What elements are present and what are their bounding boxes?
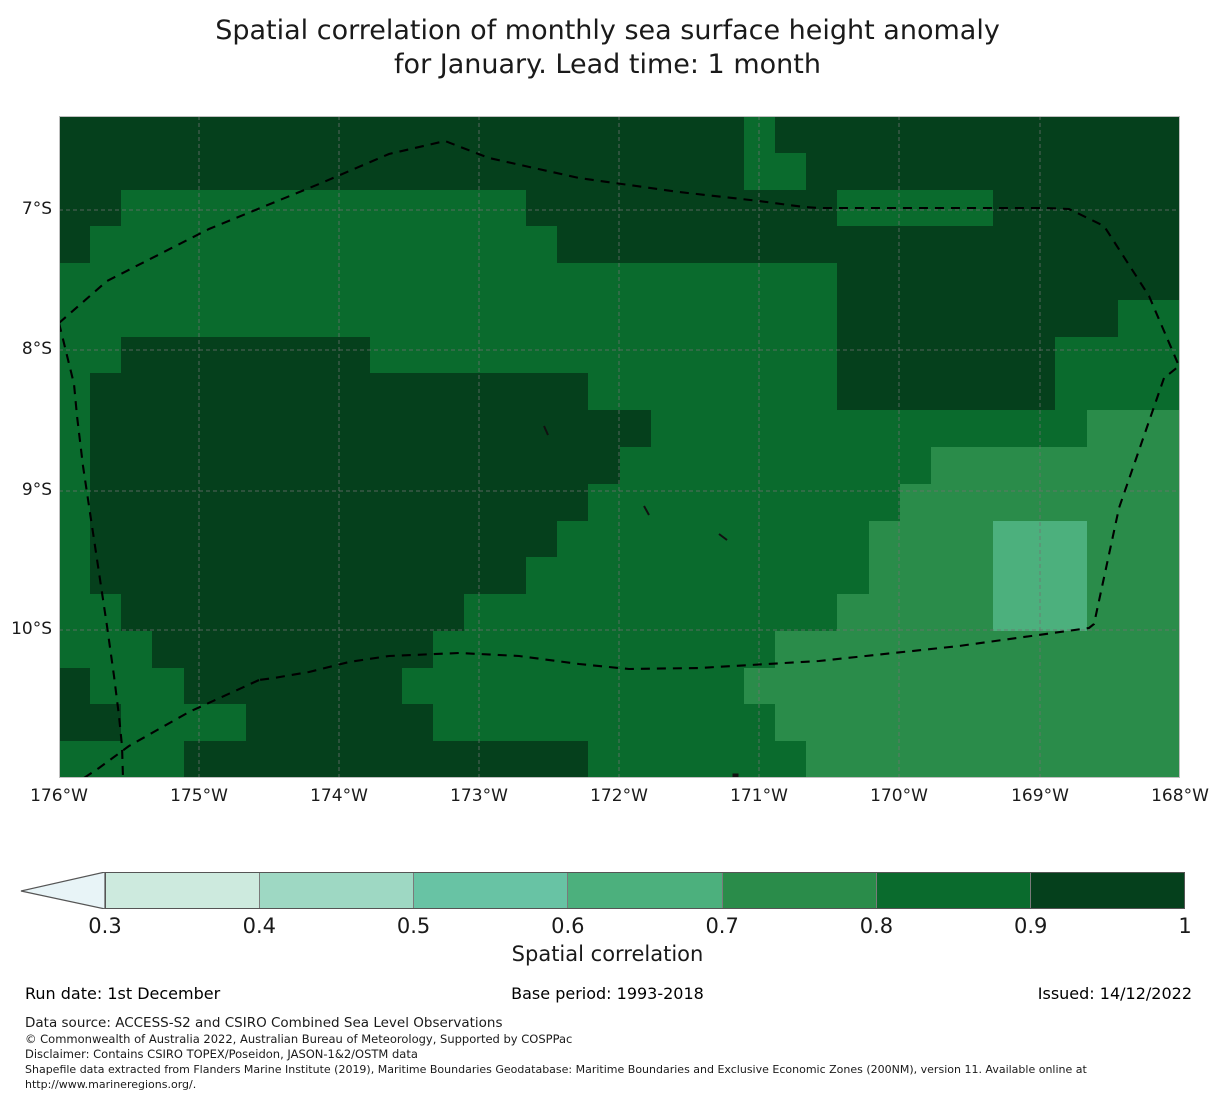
heatmap-cell bbox=[1055, 447, 1086, 484]
heatmap-cell bbox=[433, 557, 464, 594]
heatmap-cell bbox=[713, 594, 744, 631]
heatmap-cell bbox=[775, 631, 806, 668]
heatmap-cell bbox=[152, 521, 183, 558]
heatmap-cell bbox=[215, 704, 246, 741]
heatmap-cell bbox=[402, 373, 433, 410]
heatmap-cell bbox=[962, 410, 993, 447]
heatmap-cell bbox=[713, 116, 744, 153]
heatmap-cell bbox=[962, 337, 993, 374]
heatmap-cell bbox=[713, 668, 744, 705]
heatmap-cell bbox=[495, 741, 526, 778]
heatmap-cell bbox=[308, 263, 339, 300]
heatmap-cell bbox=[557, 557, 588, 594]
heatmap-cell bbox=[682, 190, 713, 227]
heatmap-cell bbox=[775, 594, 806, 631]
heatmap-cell bbox=[1149, 263, 1180, 300]
heatmap-cell bbox=[184, 190, 215, 227]
heatmap-cell bbox=[837, 337, 868, 374]
heatmap-cell bbox=[806, 484, 837, 521]
colorbar-tick-label: 0.4 bbox=[243, 914, 276, 938]
heatmap-cell bbox=[1087, 484, 1118, 521]
heatmap-cell bbox=[837, 410, 868, 447]
heatmap-cell bbox=[1149, 521, 1180, 558]
heatmap-cell bbox=[59, 704, 90, 741]
heatmap-cell bbox=[900, 704, 931, 741]
heatmap-cell bbox=[713, 741, 744, 778]
heatmap-cell bbox=[1149, 153, 1180, 190]
heatmap-cell bbox=[993, 741, 1024, 778]
heatmap-cell bbox=[1087, 704, 1118, 741]
longitude-tick-label: 168°W bbox=[1151, 786, 1209, 806]
heatmap-cell bbox=[682, 337, 713, 374]
heatmap-cell bbox=[246, 337, 277, 374]
heatmap-cell bbox=[215, 447, 246, 484]
heatmap-cell bbox=[806, 631, 837, 668]
heatmap-cell bbox=[993, 226, 1024, 263]
heatmap-cell bbox=[837, 631, 868, 668]
colorbar-tick-label: 1 bbox=[1178, 914, 1191, 938]
heatmap-cell bbox=[1024, 337, 1055, 374]
heatmap-cell bbox=[90, 741, 121, 778]
heatmap-cell bbox=[775, 300, 806, 337]
heatmap-cell bbox=[993, 263, 1024, 300]
heatmap-cell bbox=[339, 557, 370, 594]
heatmap-cell bbox=[900, 631, 931, 668]
colorbar-tick-label: 0.6 bbox=[551, 914, 584, 938]
heatmap-cell bbox=[869, 153, 900, 190]
heatmap-cell bbox=[1118, 741, 1149, 778]
heatmap-cell bbox=[246, 190, 277, 227]
heatmap-cell bbox=[993, 373, 1024, 410]
heatmap-cell bbox=[526, 631, 557, 668]
heatmap-cell bbox=[620, 300, 651, 337]
heatmap-cell bbox=[962, 704, 993, 741]
latitude-tick-label: 9°S bbox=[22, 480, 52, 500]
heatmap-cell bbox=[370, 557, 401, 594]
heatmap-cell bbox=[277, 668, 308, 705]
heatmap-cell bbox=[837, 447, 868, 484]
heatmap-cell bbox=[620, 484, 651, 521]
heatmap-cell bbox=[993, 447, 1024, 484]
heatmap-cell bbox=[308, 116, 339, 153]
heatmap-cell bbox=[495, 190, 526, 227]
heatmap-cell bbox=[370, 226, 401, 263]
heatmap-cell bbox=[308, 190, 339, 227]
heatmap-cell bbox=[620, 337, 651, 374]
heatmap-cell bbox=[277, 557, 308, 594]
heatmap-cell bbox=[1087, 741, 1118, 778]
heatmap-cell bbox=[121, 557, 152, 594]
heatmap-cell bbox=[90, 263, 121, 300]
heatmap-cell bbox=[588, 668, 619, 705]
colorbar-swatch bbox=[1031, 873, 1184, 908]
heatmap-cell bbox=[869, 594, 900, 631]
heatmap-cell bbox=[59, 447, 90, 484]
heatmap-cell bbox=[806, 668, 837, 705]
heatmap-cell bbox=[121, 153, 152, 190]
heatmap-cell bbox=[1118, 484, 1149, 521]
heatmap-cell bbox=[682, 116, 713, 153]
heatmap-cell bbox=[277, 190, 308, 227]
heatmap-cell bbox=[215, 153, 246, 190]
heatmap-cell bbox=[588, 631, 619, 668]
heatmap-cell bbox=[931, 704, 962, 741]
longitude-tick-label: 174°W bbox=[310, 786, 368, 806]
heatmap-cell bbox=[1087, 557, 1118, 594]
colorbar-tick-label: 0.5 bbox=[397, 914, 430, 938]
heatmap-cell bbox=[620, 447, 651, 484]
heatmap-cell bbox=[931, 447, 962, 484]
heatmap-cell bbox=[1024, 631, 1055, 668]
heatmap-cell bbox=[433, 447, 464, 484]
heatmap-cell bbox=[588, 300, 619, 337]
heatmap-cell bbox=[1087, 410, 1118, 447]
heatmap-cell bbox=[121, 594, 152, 631]
heatmap-cell bbox=[495, 521, 526, 558]
heatmap-cell bbox=[1087, 116, 1118, 153]
issued-date: Issued: 14/12/2022 bbox=[1038, 984, 1192, 1003]
heatmap-cell bbox=[1055, 521, 1086, 558]
heatmap-cell bbox=[1087, 263, 1118, 300]
heatmap-cell bbox=[184, 668, 215, 705]
heatmap-cell bbox=[277, 594, 308, 631]
heatmap-cell bbox=[931, 410, 962, 447]
heatmap-cell bbox=[184, 704, 215, 741]
colorbar-swatch bbox=[723, 873, 877, 908]
heatmap-cell bbox=[402, 521, 433, 558]
heatmap-cell bbox=[682, 594, 713, 631]
heatmap-cell bbox=[526, 300, 557, 337]
heatmap-cell bbox=[962, 300, 993, 337]
heatmap-cell bbox=[339, 337, 370, 374]
heatmap-cell bbox=[495, 300, 526, 337]
heatmap-cell bbox=[744, 557, 775, 594]
heatmap-cell bbox=[775, 226, 806, 263]
colorbar-swatch bbox=[106, 873, 260, 908]
longitude-tick-label: 176°W bbox=[30, 786, 88, 806]
heatmap-cell bbox=[651, 631, 682, 668]
heatmap-cell bbox=[651, 594, 682, 631]
colorbar-tick-label: 0.8 bbox=[860, 914, 893, 938]
base-period: Base period: 1993-2018 bbox=[0, 984, 1215, 1003]
heatmap-cell bbox=[557, 300, 588, 337]
heatmap-cell bbox=[588, 337, 619, 374]
heatmap-cell bbox=[339, 190, 370, 227]
heatmap-cell bbox=[931, 668, 962, 705]
heatmap-cell bbox=[713, 631, 744, 668]
longitude-tick-label: 172°W bbox=[590, 786, 648, 806]
heatmap-cell bbox=[277, 116, 308, 153]
heatmap-cell bbox=[339, 704, 370, 741]
heatmap-cell bbox=[557, 668, 588, 705]
heatmap-cell bbox=[713, 373, 744, 410]
heatmap-cell bbox=[1118, 410, 1149, 447]
heatmap-cell bbox=[1118, 153, 1149, 190]
heatmap-cell bbox=[588, 153, 619, 190]
heatmap-cell bbox=[370, 410, 401, 447]
heatmap-cell bbox=[682, 741, 713, 778]
heatmap-cell bbox=[557, 521, 588, 558]
map-plot-area bbox=[59, 116, 1180, 778]
heatmap-cell bbox=[339, 116, 370, 153]
heatmap-cell bbox=[339, 300, 370, 337]
heatmap-cell bbox=[495, 337, 526, 374]
heatmap-cell bbox=[651, 410, 682, 447]
heatmap-cell bbox=[775, 704, 806, 741]
heatmap-cell bbox=[557, 741, 588, 778]
heatmap-cell bbox=[651, 668, 682, 705]
heatmap-cell bbox=[277, 410, 308, 447]
heatmap-cell bbox=[526, 337, 557, 374]
heatmap-cell bbox=[1118, 668, 1149, 705]
heatmap-cell bbox=[184, 521, 215, 558]
heatmap-cell bbox=[308, 631, 339, 668]
heatmap-cell bbox=[1024, 704, 1055, 741]
heatmap-cell bbox=[1024, 447, 1055, 484]
heatmap-cell bbox=[433, 704, 464, 741]
longitude-tick-label: 171°W bbox=[730, 786, 788, 806]
heatmap-cell bbox=[588, 263, 619, 300]
heatmap-cell bbox=[775, 668, 806, 705]
heatmap-cell bbox=[246, 116, 277, 153]
heatmap-cell bbox=[59, 263, 90, 300]
heatmap-cell bbox=[837, 668, 868, 705]
heatmap-cell bbox=[900, 116, 931, 153]
heatmap-cell bbox=[402, 668, 433, 705]
heatmap-cell bbox=[464, 263, 495, 300]
heatmap-cell bbox=[1087, 594, 1118, 631]
heatmap-cell bbox=[402, 631, 433, 668]
heatmap-cell bbox=[308, 594, 339, 631]
heatmap-cell bbox=[215, 484, 246, 521]
heatmap-cell bbox=[90, 631, 121, 668]
heatmap-cell bbox=[1024, 226, 1055, 263]
heatmap-cell bbox=[90, 300, 121, 337]
heatmap-cell bbox=[339, 226, 370, 263]
heatmap-cell bbox=[837, 704, 868, 741]
heatmap-cell bbox=[588, 190, 619, 227]
heatmap-cell bbox=[744, 631, 775, 668]
heatmap-cell bbox=[433, 337, 464, 374]
heatmap-cell bbox=[775, 153, 806, 190]
heatmap-cell bbox=[433, 594, 464, 631]
heatmap-cell bbox=[246, 484, 277, 521]
heatmap-cell bbox=[495, 153, 526, 190]
heatmap-cell bbox=[495, 484, 526, 521]
heatmap-cell bbox=[90, 704, 121, 741]
heatmap-cell bbox=[184, 263, 215, 300]
heatmap-cell bbox=[1024, 557, 1055, 594]
heatmap-cell bbox=[464, 153, 495, 190]
heatmap-cell bbox=[1118, 337, 1149, 374]
heatmap-cell bbox=[402, 190, 433, 227]
heatmap-cell bbox=[869, 190, 900, 227]
heatmap-cell bbox=[869, 631, 900, 668]
heatmap-cell bbox=[402, 557, 433, 594]
heatmap-cell bbox=[1055, 557, 1086, 594]
heatmap-cell bbox=[308, 337, 339, 374]
heatmap-cell bbox=[1118, 190, 1149, 227]
heatmap-cell bbox=[806, 447, 837, 484]
heatmap-cell bbox=[90, 484, 121, 521]
heatmap-cell bbox=[837, 153, 868, 190]
heatmap-cell bbox=[370, 631, 401, 668]
heatmap-cell bbox=[1024, 263, 1055, 300]
colorbar-swatch bbox=[414, 873, 568, 908]
heatmap-cell bbox=[339, 521, 370, 558]
heatmap-cell bbox=[246, 631, 277, 668]
heatmap-cell bbox=[433, 521, 464, 558]
heatmap-cell bbox=[308, 410, 339, 447]
footnotes: Data source: ACCESS-S2 and CSIRO Combine… bbox=[25, 1014, 1205, 1092]
heatmap-cell bbox=[962, 116, 993, 153]
heatmap-cell bbox=[620, 668, 651, 705]
heatmap-cell bbox=[682, 631, 713, 668]
heatmap-cell bbox=[931, 190, 962, 227]
heatmap-cell bbox=[775, 116, 806, 153]
heatmap-cell bbox=[121, 300, 152, 337]
heatmap-cell bbox=[464, 373, 495, 410]
heatmap-cell bbox=[1055, 116, 1086, 153]
heatmap-cell bbox=[215, 300, 246, 337]
heatmap-cell bbox=[59, 484, 90, 521]
heatmap-cell bbox=[370, 337, 401, 374]
heatmap-cell bbox=[1024, 116, 1055, 153]
heatmap-cell bbox=[370, 521, 401, 558]
heatmap-cell bbox=[806, 116, 837, 153]
heatmap-cell bbox=[962, 631, 993, 668]
heatmap-cell bbox=[837, 116, 868, 153]
heatmap-cell bbox=[651, 704, 682, 741]
heatmap-cell bbox=[1087, 153, 1118, 190]
heatmap-cell bbox=[402, 153, 433, 190]
heatmap-cell bbox=[277, 447, 308, 484]
heatmap-cell bbox=[184, 594, 215, 631]
heatmap-cell bbox=[1118, 521, 1149, 558]
heatmap-cell bbox=[620, 410, 651, 447]
heatmap-cell bbox=[121, 704, 152, 741]
colorbar-tick-label: 0.7 bbox=[705, 914, 738, 938]
heatmap-cell bbox=[588, 226, 619, 263]
heatmap-cell bbox=[1087, 373, 1118, 410]
heatmap-cell bbox=[464, 190, 495, 227]
heatmap-cell bbox=[993, 557, 1024, 594]
heatmap-cell bbox=[277, 373, 308, 410]
heatmap-cell bbox=[806, 521, 837, 558]
heatmap-cell bbox=[775, 337, 806, 374]
heatmap-cell bbox=[869, 741, 900, 778]
heatmap-cell bbox=[59, 668, 90, 705]
heatmap-cell bbox=[806, 594, 837, 631]
heatmap-cell bbox=[495, 447, 526, 484]
correlation-heatmap-grid bbox=[59, 116, 1180, 778]
heatmap-cell bbox=[246, 410, 277, 447]
heatmap-cell bbox=[837, 226, 868, 263]
heatmap-cell bbox=[246, 153, 277, 190]
heatmap-cell bbox=[557, 116, 588, 153]
heatmap-cell bbox=[370, 300, 401, 337]
heatmap-cell bbox=[620, 521, 651, 558]
heatmap-cell bbox=[806, 263, 837, 300]
heatmap-cell bbox=[1055, 410, 1086, 447]
heatmap-cell bbox=[869, 410, 900, 447]
heatmap-cell bbox=[277, 704, 308, 741]
heatmap-cell bbox=[215, 557, 246, 594]
heatmap-cell bbox=[152, 263, 183, 300]
heatmap-cell bbox=[152, 300, 183, 337]
heatmap-cell bbox=[620, 116, 651, 153]
heatmap-cell bbox=[775, 557, 806, 594]
heatmap-cell bbox=[869, 263, 900, 300]
heatmap-cell bbox=[806, 373, 837, 410]
heatmap-cell bbox=[1055, 263, 1086, 300]
heatmap-cell bbox=[962, 521, 993, 558]
heatmap-cell bbox=[184, 226, 215, 263]
heatmap-cell bbox=[246, 741, 277, 778]
heatmap-cell bbox=[1149, 190, 1180, 227]
heatmap-cell bbox=[931, 373, 962, 410]
heatmap-cell bbox=[775, 373, 806, 410]
heatmap-cell bbox=[433, 631, 464, 668]
heatmap-cell bbox=[1118, 300, 1149, 337]
heatmap-cell bbox=[651, 741, 682, 778]
heatmap-cell bbox=[370, 447, 401, 484]
heatmap-cell bbox=[869, 447, 900, 484]
heatmap-cell bbox=[837, 300, 868, 337]
heatmap-cell bbox=[339, 741, 370, 778]
disclaimer-note: Disclaimer: Contains CSIRO TOPEX/Poseido… bbox=[25, 1047, 1205, 1062]
heatmap-cell bbox=[90, 153, 121, 190]
heatmap-cell bbox=[993, 300, 1024, 337]
colorbar-tick-label: 0.3 bbox=[88, 914, 121, 938]
heatmap-cell bbox=[308, 704, 339, 741]
heatmap-cell bbox=[775, 447, 806, 484]
heatmap-cell bbox=[370, 116, 401, 153]
heatmap-cell bbox=[557, 447, 588, 484]
latitude-tick-label: 10°S bbox=[11, 619, 52, 639]
heatmap-cell bbox=[339, 447, 370, 484]
heatmap-cell bbox=[713, 521, 744, 558]
heatmap-cell bbox=[495, 594, 526, 631]
heatmap-cell bbox=[1118, 373, 1149, 410]
heatmap-cell bbox=[121, 116, 152, 153]
heatmap-cell bbox=[121, 226, 152, 263]
heatmap-cell bbox=[152, 190, 183, 227]
heatmap-cell bbox=[806, 153, 837, 190]
heatmap-cell bbox=[402, 741, 433, 778]
heatmap-cell bbox=[121, 410, 152, 447]
heatmap-cell bbox=[620, 153, 651, 190]
heatmap-cell bbox=[308, 557, 339, 594]
heatmap-cell bbox=[620, 263, 651, 300]
heatmap-cell bbox=[713, 484, 744, 521]
heatmap-cell bbox=[557, 594, 588, 631]
heatmap-cell bbox=[246, 594, 277, 631]
heatmap-cell bbox=[1024, 373, 1055, 410]
heatmap-cell bbox=[962, 668, 993, 705]
heatmap-cell bbox=[744, 300, 775, 337]
heatmap-cell bbox=[900, 521, 931, 558]
heatmap-cell bbox=[526, 521, 557, 558]
heatmap-cell bbox=[1024, 190, 1055, 227]
heatmap-cell bbox=[370, 668, 401, 705]
heatmap-cell bbox=[1087, 337, 1118, 374]
heatmap-cell bbox=[1118, 704, 1149, 741]
colorbar-under-arrow bbox=[20, 872, 106, 909]
heatmap-cell bbox=[931, 484, 962, 521]
heatmap-cell bbox=[184, 741, 215, 778]
heatmap-cell bbox=[806, 741, 837, 778]
